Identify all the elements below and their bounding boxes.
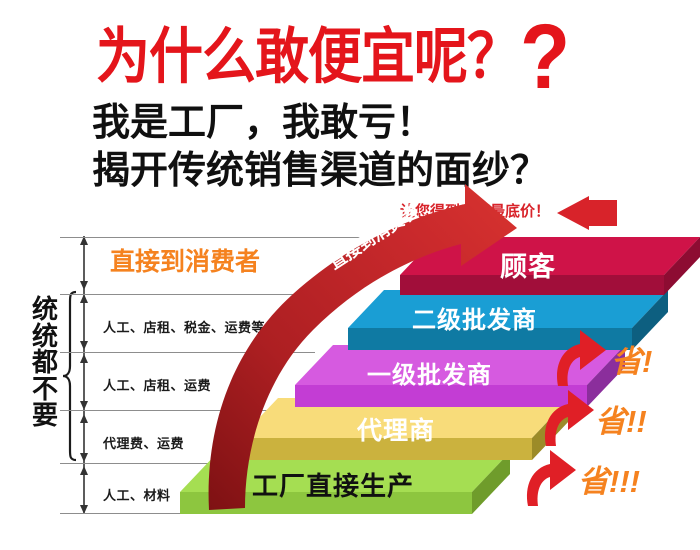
main-headline: 为什么敢便宜呢？?: [96, 12, 566, 104]
save-label-1: 省!: [611, 336, 652, 381]
left-vertical-char-4: 不: [26, 376, 64, 403]
big-curved-arrow-icon: [165, 182, 525, 512]
save-label-3: 省!!!: [578, 456, 640, 501]
infographic-canvas: 为什么敢便宜呢？? 我是工厂，我敢亏！ 揭开传统销售渠道的面纱？ 让您得到出厂最…: [0, 0, 700, 550]
save-hook-arrow-icon-1: [552, 330, 608, 390]
left-vertical-char-3: 都: [26, 349, 64, 376]
left-vertical-char-2: 统: [26, 323, 64, 350]
tagline-left-arrow-icon: [555, 196, 625, 230]
save-label-2: 省!!: [595, 396, 647, 441]
left-vertical-label: 统 统 都 不 要: [26, 296, 64, 429]
save-hook-arrow-icon-2: [540, 390, 596, 450]
save-hook-arrow-icon-3: [522, 450, 578, 510]
cost-label-4: 人工、材料: [103, 485, 171, 504]
headline-text: 为什么敢便宜呢？: [96, 23, 520, 90]
headline-question-mark: ?: [520, 6, 566, 108]
left-vertical-char-1: 统: [26, 296, 64, 323]
measure-axis-icon: [72, 236, 96, 514]
left-vertical-char-5: 要: [26, 402, 64, 429]
subheading-line-1: 我是工厂，我敢亏！: [92, 104, 434, 142]
